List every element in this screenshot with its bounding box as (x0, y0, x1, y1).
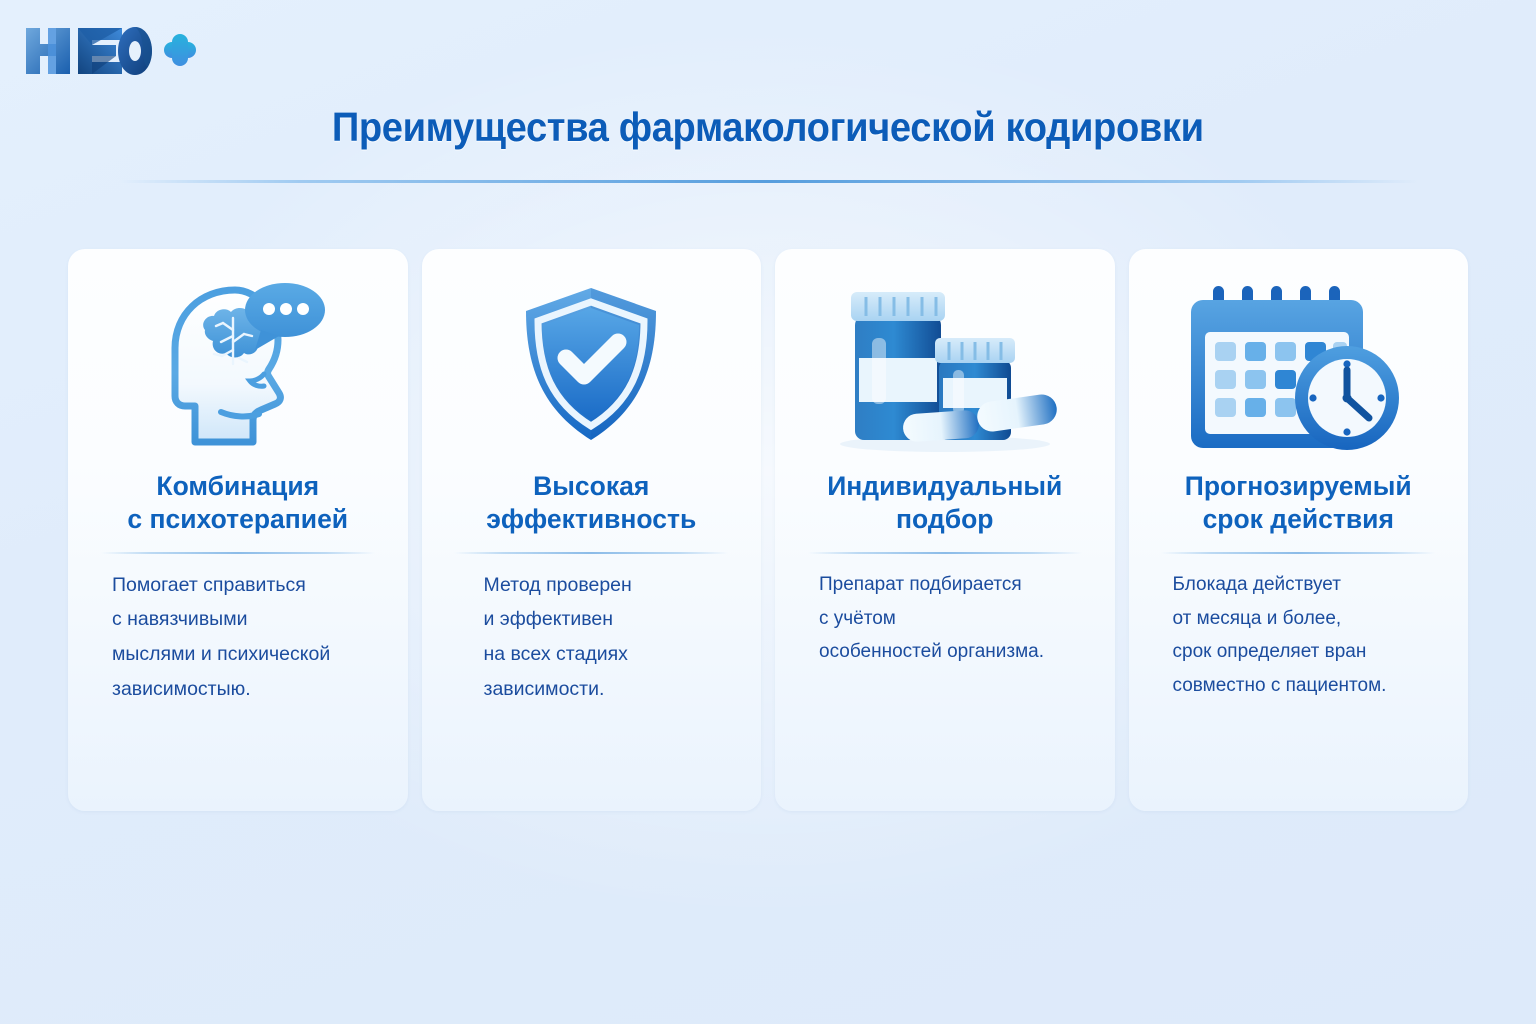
card-body-line: с навязчивыми (112, 602, 388, 637)
card-body-line: от месяца и более, (1173, 602, 1449, 636)
card-body-line: зависимости. (484, 672, 742, 707)
icon-container (436, 265, 748, 470)
neo-plus-logo-icon (18, 20, 198, 82)
icon-container (82, 265, 394, 470)
card-title: Индивидуальный подбор (823, 470, 1066, 536)
card-title-line2: эффективность (486, 504, 696, 534)
card-body: Помогает справиться с навязчивыми мыслям… (82, 568, 394, 707)
card-title-line1: Индивидуальный (827, 471, 1062, 501)
card-title-line1: Комбинация (156, 471, 319, 501)
card-divider (1161, 552, 1435, 554)
card-divider (101, 552, 375, 554)
card-title: Высокая эффективность (482, 470, 700, 536)
head-brain-speech-bubble-icon (143, 278, 333, 458)
card-divider (808, 552, 1082, 554)
card-body-line: на всех стадиях (484, 637, 742, 672)
card-body-line: и эффективен (484, 602, 742, 637)
card-body: Блокада действует от месяца и более, сро… (1143, 568, 1455, 703)
icon-container (1143, 265, 1455, 470)
shield-check-icon (506, 278, 676, 458)
card-title-line1: Прогнозируемый (1185, 471, 1412, 501)
page-title: Преимущества фармакологической кодировки (332, 104, 1204, 151)
card-body: Метод проверен и эффективен на всех стад… (436, 568, 748, 707)
card-body-line: совместно с пациентом. (1173, 669, 1449, 703)
icon-container (789, 265, 1101, 470)
calendar-clock-icon (1183, 278, 1413, 458)
card-body-line: срок определяет вран (1173, 635, 1449, 669)
card-body-line: особенностей организма. (819, 635, 1095, 669)
benefit-card-list: Комбинация с психотерапией Помогает спра… (68, 249, 1468, 811)
card-body: Препарат подбирается с учётом особенност… (789, 568, 1101, 669)
card-divider (454, 552, 728, 554)
page-title-wrap: Преимущества фармакологической кодировки (0, 104, 1536, 151)
card-body-line: Препарат подбирается (819, 568, 1095, 602)
card-title-line1: Высокая (533, 471, 649, 501)
card-body-line: Метод проверен (484, 568, 742, 603)
card-body-line: с учётом (819, 602, 1095, 636)
benefit-card-predictable-duration[interactable]: Прогнозируемый срок действия Блокада дей… (1129, 249, 1469, 811)
card-title: Комбинация с психотерапией (123, 470, 352, 536)
card-body-line: мыслями и психической (112, 637, 388, 672)
card-body-line: Блокада действует (1173, 568, 1449, 602)
card-body-line: Помогает справиться (112, 568, 388, 603)
brand-logo[interactable] (18, 20, 198, 82)
benefit-card-high-effectiveness[interactable]: Высокая эффективность Метод проверен и э… (422, 249, 762, 811)
card-title: Прогнозируемый срок действия (1181, 470, 1416, 536)
benefit-card-individual-selection[interactable]: Индивидуальный подбор Препарат подбирает… (775, 249, 1115, 811)
card-title-line2: с психотерапией (127, 504, 348, 534)
pill-bottles-capsules-icon (825, 278, 1065, 458)
card-body-line: зависимостыю. (112, 672, 388, 707)
title-divider (118, 180, 1418, 183)
benefit-card-combination-psychotherapy[interactable]: Комбинация с психотерапией Помогает спра… (68, 249, 408, 811)
card-title-line2: срок действия (1203, 504, 1394, 534)
card-title-line2: подбор (896, 504, 993, 534)
